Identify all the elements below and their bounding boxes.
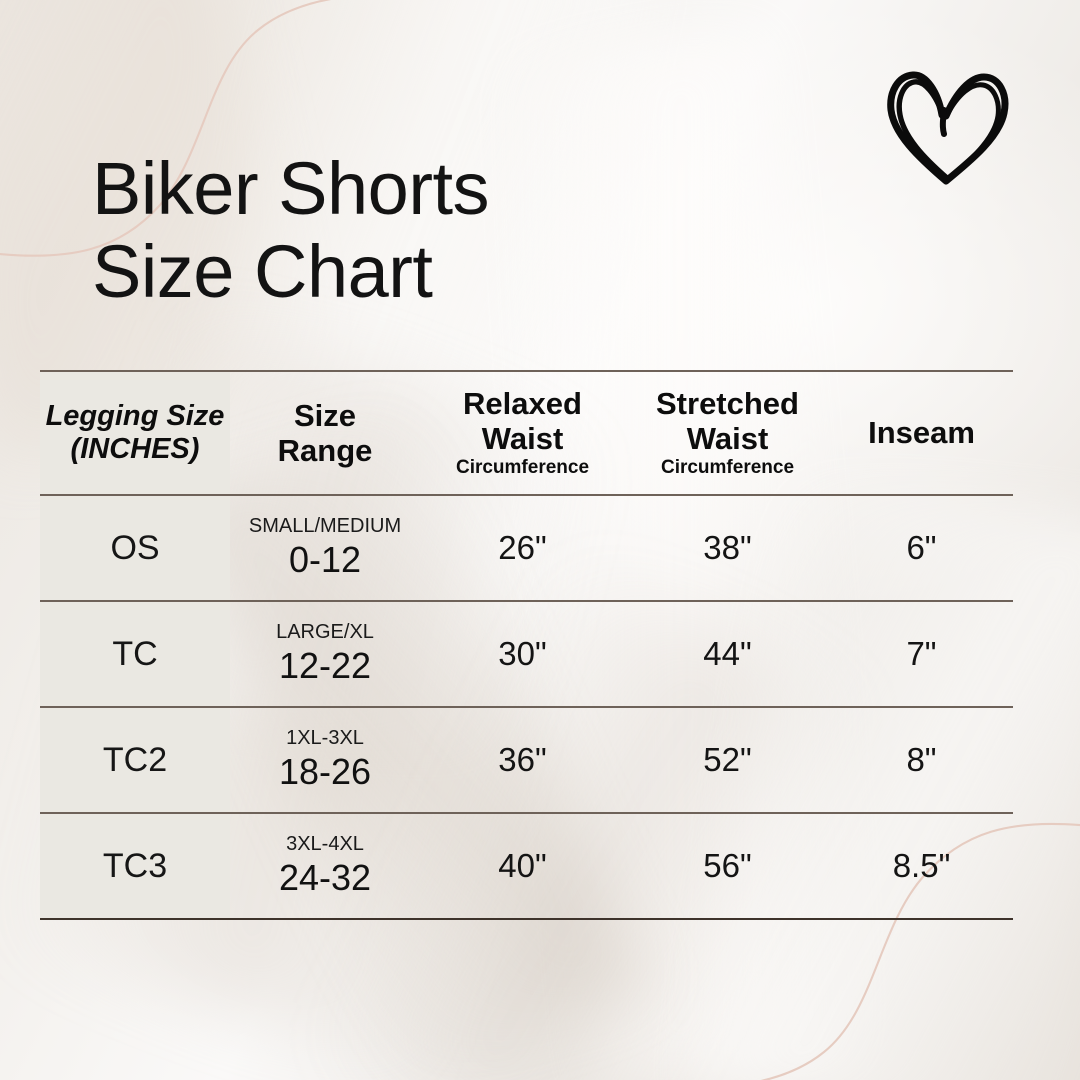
cell-inseam: 8" <box>830 707 1013 813</box>
heart-doodle-icon <box>880 58 1020 193</box>
cell-legging-size: TC3 <box>40 813 230 919</box>
column-header-legging-size: Legging Size (INCHES) <box>40 371 230 495</box>
size-range-label: 1XL-3XL <box>230 727 420 749</box>
column-header-stretched-waist: Stretched Waist Circumference <box>625 371 830 495</box>
cell-relaxed-waist: 30" <box>420 601 625 707</box>
cell-stretched-waist: 38" <box>625 495 830 601</box>
table-header-row: Legging Size (INCHES) Size Range Relaxed… <box>40 371 1013 495</box>
column-header-label: Stretched Waist <box>625 386 830 456</box>
column-header-label: Relaxed Waist <box>420 386 625 456</box>
column-header-label: Legging Size (INCHES) <box>40 400 230 466</box>
cell-legging-size: TC <box>40 601 230 707</box>
cell-relaxed-waist: 26" <box>420 495 625 601</box>
column-header-sublabel: Circumference <box>420 457 625 480</box>
table-row: OS SMALL/MEDIUM 0-12 26" 38" 6" <box>40 495 1013 601</box>
table-row: TC2 1XL-3XL 18-26 36" 52" 8" <box>40 707 1013 813</box>
cell-relaxed-waist: 36" <box>420 707 625 813</box>
column-header-label: Inseam <box>830 415 1013 450</box>
column-header-sublabel: Circumference <box>625 457 830 480</box>
size-range-numbers: 18-26 <box>230 751 420 792</box>
cell-size-range: 3XL-4XL 24-32 <box>230 813 420 919</box>
cell-size-range: SMALL/MEDIUM 0-12 <box>230 495 420 601</box>
cell-stretched-waist: 44" <box>625 601 830 707</box>
size-range-numbers: 12-22 <box>230 645 420 686</box>
table-row: TC LARGE/XL 12-22 30" 44" 7" <box>40 601 1013 707</box>
cell-inseam: 6" <box>830 495 1013 601</box>
size-range-numbers: 0-12 <box>230 539 420 580</box>
cell-stretched-waist: 52" <box>625 707 830 813</box>
cell-legging-size: OS <box>40 495 230 601</box>
size-range-label: 3XL-4XL <box>230 833 420 855</box>
cell-legging-size: TC2 <box>40 707 230 813</box>
size-chart-table: Legging Size (INCHES) Size Range Relaxed… <box>40 370 1013 920</box>
column-header-relaxed-waist: Relaxed Waist Circumference <box>420 371 625 495</box>
cell-inseam: 7" <box>830 601 1013 707</box>
column-header-label: Size Range <box>230 398 420 468</box>
page-title: Biker Shorts Size Chart <box>92 148 489 314</box>
cell-size-range: LARGE/XL 12-22 <box>230 601 420 707</box>
column-header-inseam: Inseam <box>830 371 1013 495</box>
table-row: TC3 3XL-4XL 24-32 40" 56" 8.5" <box>40 813 1013 919</box>
size-range-label: SMALL/MEDIUM <box>230 515 420 537</box>
cell-inseam: 8.5" <box>830 813 1013 919</box>
cell-relaxed-waist: 40" <box>420 813 625 919</box>
cell-stretched-waist: 56" <box>625 813 830 919</box>
column-header-size-range: Size Range <box>230 371 420 495</box>
size-range-numbers: 24-32 <box>230 857 420 898</box>
size-range-label: LARGE/XL <box>230 621 420 643</box>
cell-size-range: 1XL-3XL 18-26 <box>230 707 420 813</box>
